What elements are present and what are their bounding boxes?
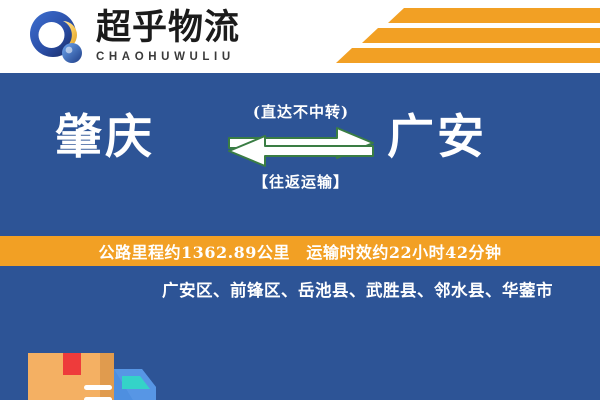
stripe-3 [336, 48, 600, 63]
origin-city: 肇庆 [55, 109, 155, 167]
orange-stripes-icon [330, 8, 600, 66]
coverage-districts: 广安区、前锋区、岳池县、武胜县、邻水县、华蓥市 [162, 279, 586, 303]
banner-header: 超乎物流 CHAOHUWULIU [0, 0, 600, 73]
round-trip-note: 【往返运输】 [225, 171, 377, 192]
delivery-truck-icon [22, 345, 174, 400]
direct-route-note: (直达不中转) [225, 101, 377, 122]
stripe-1 [388, 8, 600, 23]
logistics-banner: 超乎物流 CHAOHUWULIU 肇庆 (直达不中转) [0, 0, 600, 400]
destination-city: 广安 [387, 109, 487, 167]
route-middle: (直达不中转) 【往返运输】 [225, 101, 377, 192]
brand-block: 超乎物流 CHAOHUWULIU [96, 8, 276, 65]
brand-name-en: CHAOHUWULIU [96, 50, 276, 65]
bidirectional-arrow-icon [225, 125, 377, 167]
info-bar: 公路里程约1362.89公里 运输时效约22小时42分钟 [0, 236, 600, 266]
circle-q-logo-icon [29, 10, 85, 66]
stripe-2 [362, 28, 600, 43]
distance-duration-text: 公路里程约1362.89公里 运输时效约22小时42分钟 [99, 239, 502, 263]
brand-name-cn: 超乎物流 [96, 8, 276, 48]
banner-body: 肇庆 (直达不中转) 【往返运输】 广安 公路里程约1362.89公里 运输时效… [0, 73, 600, 400]
route-section: 肇庆 (直达不中转) 【往返运输】 广安 [0, 73, 600, 236]
